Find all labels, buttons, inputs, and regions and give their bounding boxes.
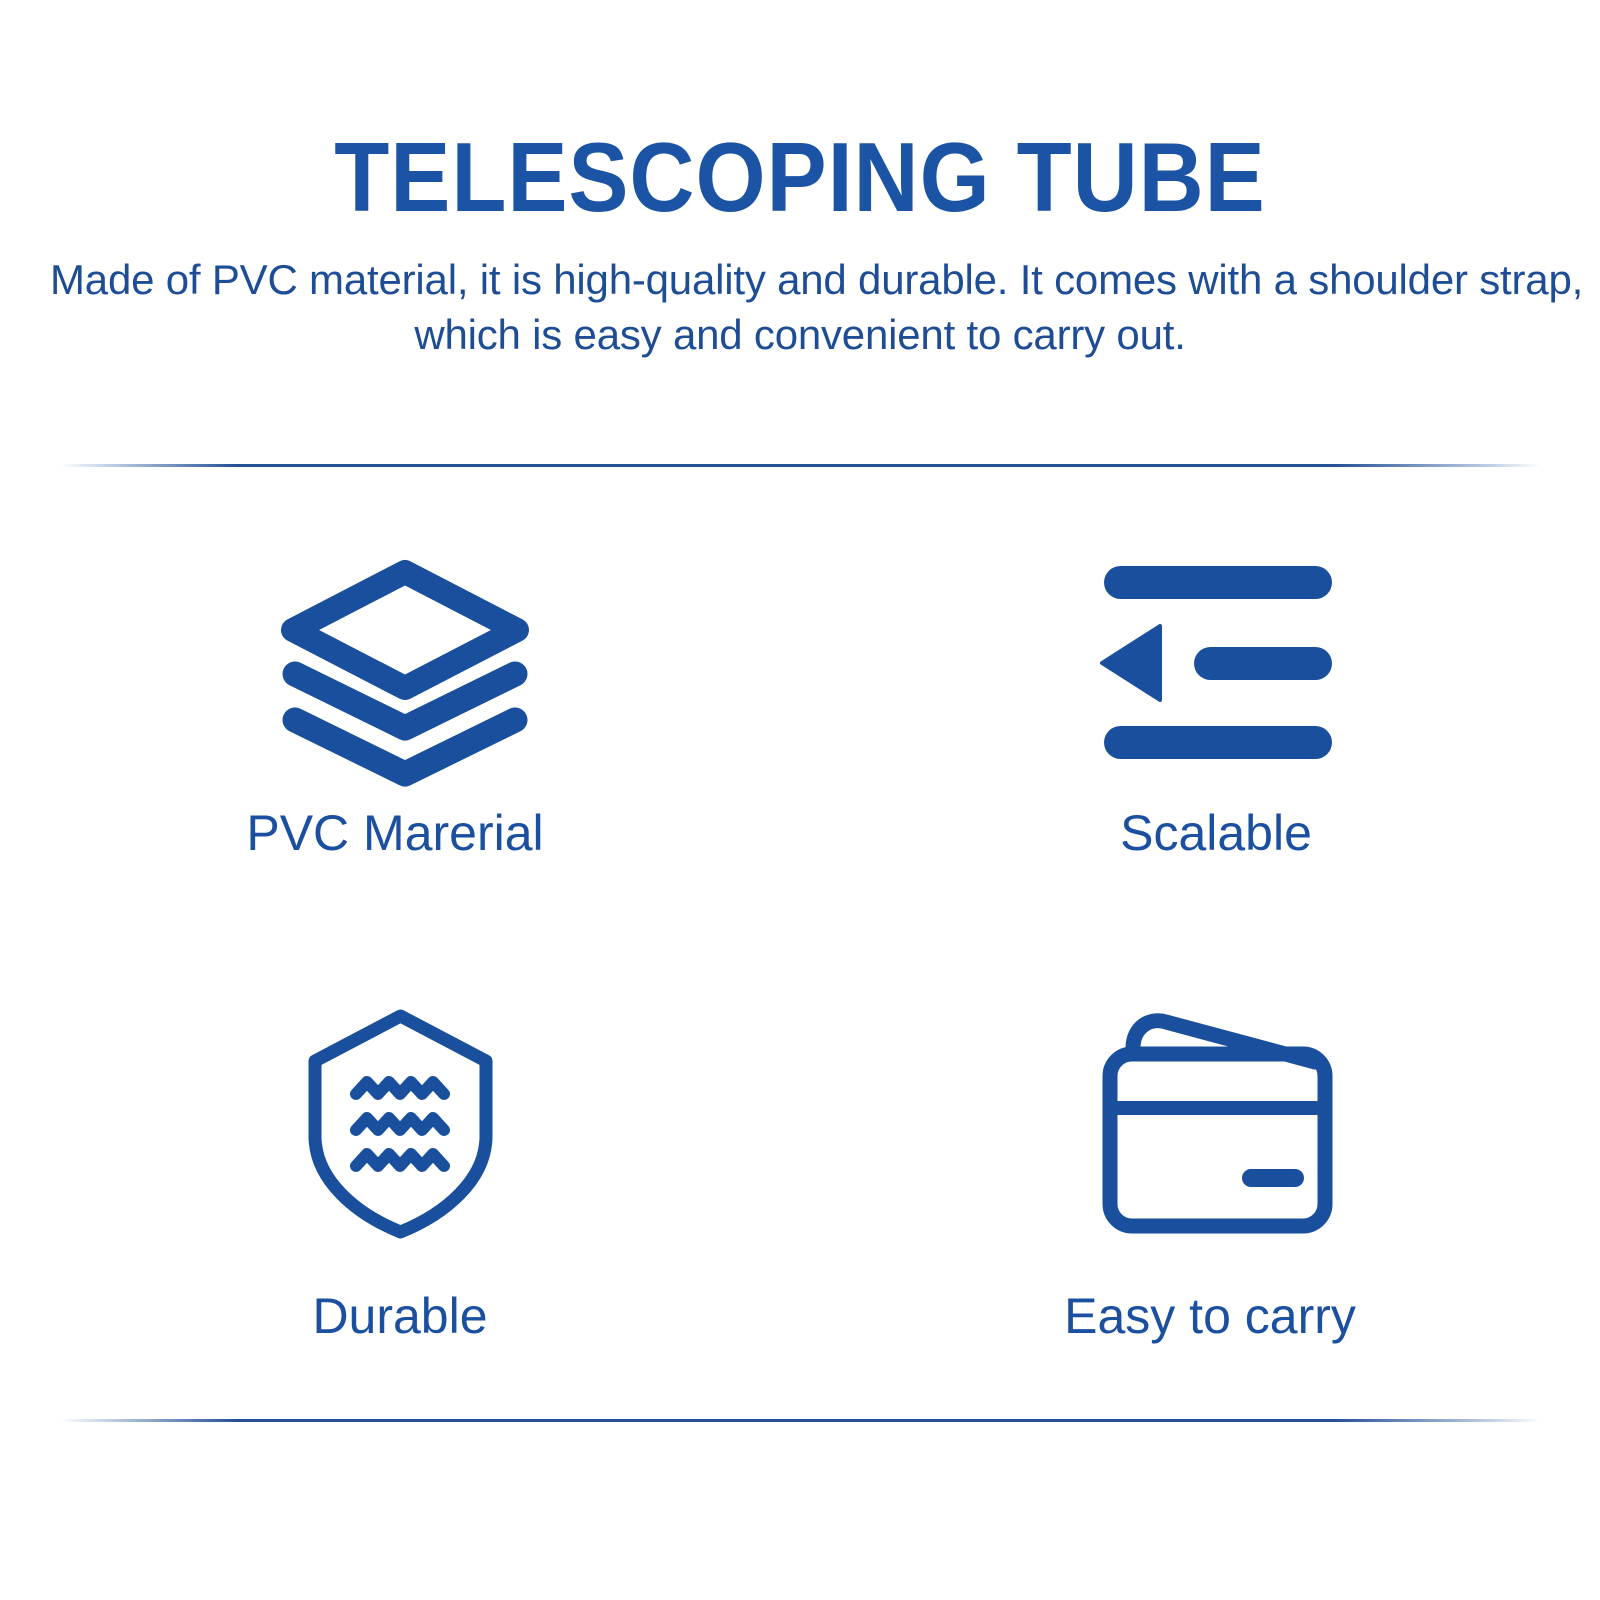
scalable-arrows-icon <box>1098 560 1338 765</box>
feature-item-durable: Durable <box>0 946 800 1414</box>
divider-top <box>60 464 1540 467</box>
feature-item-scalable: Scalable <box>800 478 1600 946</box>
shield-waves-icon <box>303 1008 498 1240</box>
product-infographic: TELESCOPING TUBE Made of PVC material, i… <box>0 0 1600 1600</box>
divider-bottom <box>60 1419 1540 1422</box>
header: TELESCOPING TUBE Made of PVC material, i… <box>0 0 1600 363</box>
feature-label-durable: Durable <box>0 1291 800 1341</box>
page-subtitle: Made of PVC material, it is high-quality… <box>50 230 1550 363</box>
subtitle-line-2: which is easy and convenient to carry ou… <box>50 307 1550 362</box>
feature-item-easy-to-carry: Easy to carry <box>800 946 1600 1414</box>
feature-label-pvc-material: PVC Marerial <box>0 808 795 858</box>
page-title: TELESCOPING TUBE <box>64 0 1536 230</box>
feature-label-easy-to-carry: Easy to carry <box>810 1291 1600 1341</box>
feature-grid: PVC Marerial Scalable <box>0 478 1600 1413</box>
briefcase-icon <box>1100 1001 1340 1236</box>
subtitle-line-1: Made of PVC material, it is high-quality… <box>50 252 1550 307</box>
feature-label-scalable: Scalable <box>816 808 1600 858</box>
layers-icon <box>285 568 525 753</box>
feature-item-pvc-material: PVC Marerial <box>0 478 800 946</box>
